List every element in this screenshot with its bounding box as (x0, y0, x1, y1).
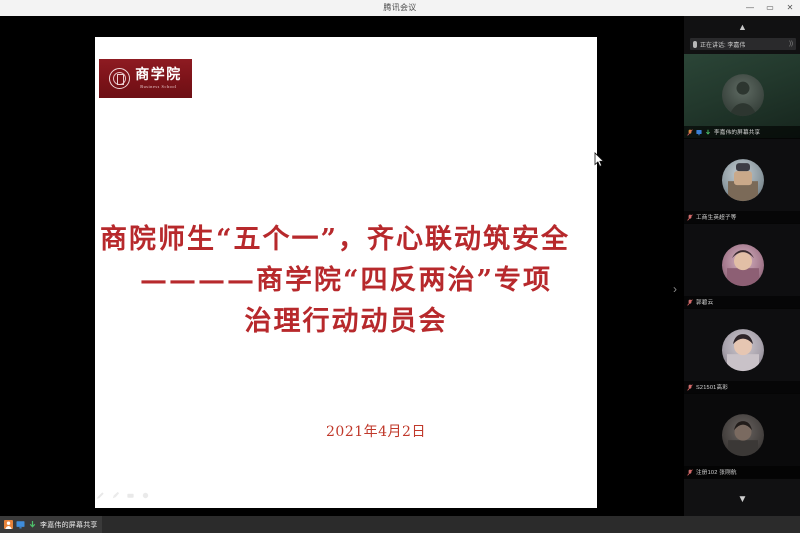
tile-label: 注册102 张刚航 (684, 466, 800, 478)
mouse-cursor-icon (594, 152, 605, 168)
user-orange-icon (4, 520, 13, 529)
shared-screen-stage[interactable]: 商学院 Business School 商院师生“五个一”，齐心联动筑安全 ——… (0, 16, 683, 516)
pen-icon[interactable] (96, 491, 105, 500)
window-titlebar: 腾讯会议 — ▭ ✕ (0, 0, 800, 17)
tile-label: 李嘉伟的屏幕共享 (684, 126, 800, 138)
maximize-button[interactable]: ▭ (760, 0, 780, 16)
participant-name: 李嘉伟的屏幕共享 (714, 128, 760, 136)
minimize-button[interactable]: — (740, 0, 760, 16)
avatar (722, 244, 764, 286)
microphone-icon (693, 41, 697, 48)
slide-title-block: 商院师生“五个一”，齐心联动筑安全 ————商学院“四反两治”专项 治理行动动员… (95, 219, 597, 342)
rail-scroll-down-button[interactable]: ▼ (684, 490, 800, 508)
logo-text: 商学院 Business School (135, 68, 182, 90)
close-button[interactable]: ✕ (780, 0, 800, 16)
rail-scroll-up-button[interactable]: ▲ (684, 16, 800, 38)
download-arrow-icon (28, 520, 37, 529)
business-school-logo: 商学院 Business School (99, 59, 192, 98)
active-speaker-chip[interactable]: 正在讲话: 李嘉伟 )) (690, 38, 796, 50)
slide-title-line-2: ————商学院“四反两治”专项 (95, 260, 597, 301)
slide-title-line-1: 商院师生“五个一”，齐心联动筑安全 (95, 219, 597, 260)
laser-pointer-icon[interactable] (141, 491, 150, 500)
microphone-muted-icon (687, 129, 693, 136)
audio-wave-icon: )) (789, 41, 793, 47)
window-title: 腾讯会议 (383, 0, 416, 16)
university-seal-icon (109, 68, 130, 89)
participant-name: 郭碧云 (696, 298, 713, 306)
avatar (722, 74, 764, 116)
participant-tile[interactable]: 工商生英超子等 (684, 139, 800, 224)
taskbar: 李嘉伟的屏幕共享 (0, 516, 800, 533)
minimize-icon: — (746, 4, 754, 12)
avatar (722, 414, 764, 456)
participant-name: S21501高彩 (696, 383, 728, 391)
taskbar-item-label: 李嘉伟的屏幕共享 (40, 520, 98, 530)
participant-tile[interactable]: 李嘉伟的屏幕共享 (684, 54, 800, 139)
presentation-slide[interactable]: 商学院 Business School 商院师生“五个一”，齐心联动筑安全 ——… (95, 37, 597, 508)
tencent-meeting-window: 腾讯会议 — ▭ ✕ 商学院 Business School (0, 0, 800, 533)
participant-tile[interactable]: S21501高彩 (684, 309, 800, 394)
highlighter-icon[interactable] (111, 491, 120, 500)
window-controls: — ▭ ✕ (740, 0, 800, 16)
microphone-muted-icon (687, 384, 693, 391)
slideshow-ink-toolbar[interactable] (95, 488, 168, 502)
slide-date: 2021年4月2日 (95, 421, 597, 441)
avatar (722, 159, 764, 201)
microphone-muted-icon (687, 469, 693, 476)
slide-title-line-3: 治理行动动员会 (95, 301, 597, 342)
active-speaker-label: 正在讲话: 李嘉伟 (700, 40, 745, 49)
tile-label: S21501高彩 (684, 381, 800, 393)
taskbar-item-screen-share[interactable]: 李嘉伟的屏幕共享 (0, 516, 102, 533)
participant-name: 工商生英超子等 (696, 213, 737, 221)
participant-tile[interactable]: 郭碧云 (684, 224, 800, 309)
monitor-icon (696, 129, 702, 136)
tile-label: 工商生英超子等 (684, 211, 800, 223)
participant-name: 注册102 张刚航 (696, 468, 737, 476)
microphone-muted-icon (687, 214, 693, 221)
tile-label: 郭碧云 (684, 296, 800, 308)
participants-rail[interactable]: ▲ 正在讲话: 李嘉伟 )) 李嘉伟的屏幕共 (683, 16, 800, 516)
close-icon: ✕ (787, 4, 794, 12)
participant-tile[interactable]: 注册102 张刚航 (684, 394, 800, 479)
logo-chinese-name: 商学院 (135, 68, 182, 83)
monitor-icon (16, 520, 25, 529)
chevron-right-icon[interactable]: › (669, 280, 681, 298)
eraser-icon[interactable] (126, 491, 135, 500)
logo-english-name: Business School (140, 83, 177, 90)
participant-tiles: 李嘉伟的屏幕共享 工商生英超子等 (684, 54, 800, 502)
maximize-icon: ▭ (766, 4, 774, 12)
download-arrow-icon (705, 129, 711, 136)
avatar (722, 329, 764, 371)
microphone-muted-icon (687, 299, 693, 306)
